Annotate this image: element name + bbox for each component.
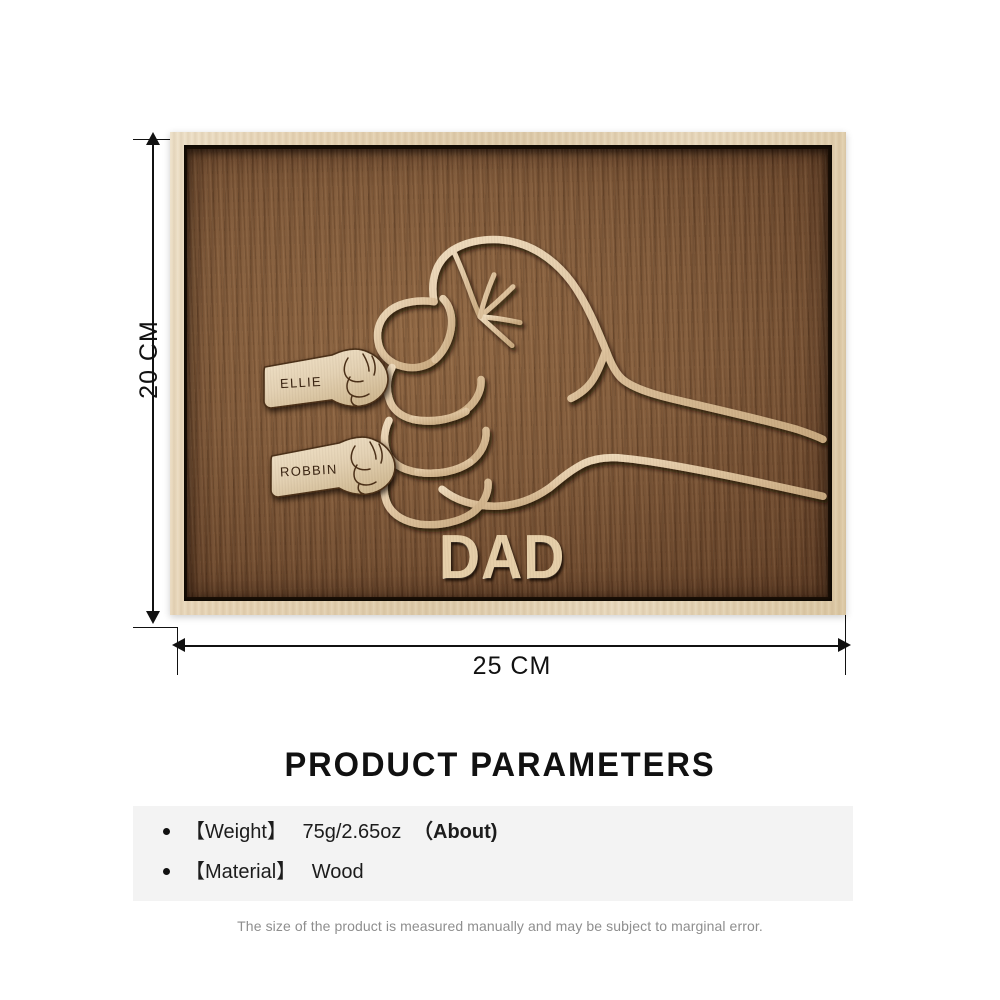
width-dimension-label: 25 CM	[0, 652, 1000, 681]
dad-word-engraving: DAD	[439, 527, 565, 589]
list-item: 【Weight】 75g/2.65oz （About)	[185, 822, 853, 842]
parameter-note: （About)	[413, 821, 497, 843]
child-fist-1: ELLIE	[262, 344, 397, 416]
arrow-up-icon	[146, 132, 160, 145]
arrow-down-icon	[146, 611, 160, 624]
parameter-value: Wood	[312, 861, 364, 883]
child-fist-2: ROBBIN	[269, 431, 404, 503]
measurement-disclaimer: The size of the product is measured manu…	[0, 918, 1000, 934]
wood-panel: ELLIE	[187, 149, 828, 597]
product-photo-frame: ELLIE	[170, 132, 846, 615]
section-title-product-parameters: PRODUCT PARAMETERS	[20, 746, 980, 785]
product-parameters-box: 【Weight】 75g/2.65oz （About) 【Material】 W…	[133, 806, 853, 901]
height-tick-bottom	[133, 627, 178, 628]
bullet-icon	[163, 868, 170, 875]
arrow-right-icon	[838, 638, 851, 652]
parameter-key: 【Material】	[185, 861, 296, 883]
parameters-list: 【Weight】 75g/2.65oz （About) 【Material】 W…	[133, 806, 853, 882]
parameter-value: 75g/2.65oz	[302, 821, 401, 843]
height-dimension-label: 20 CM	[135, 320, 164, 399]
arrow-left-icon	[172, 638, 185, 652]
bullet-icon	[163, 828, 170, 835]
list-item: 【Material】 Wood	[185, 862, 853, 882]
parameter-key: 【Weight】	[185, 821, 287, 843]
product-detail-page: 20 CM 25 CM	[0, 0, 1000, 1000]
width-dimension-line	[178, 645, 846, 647]
